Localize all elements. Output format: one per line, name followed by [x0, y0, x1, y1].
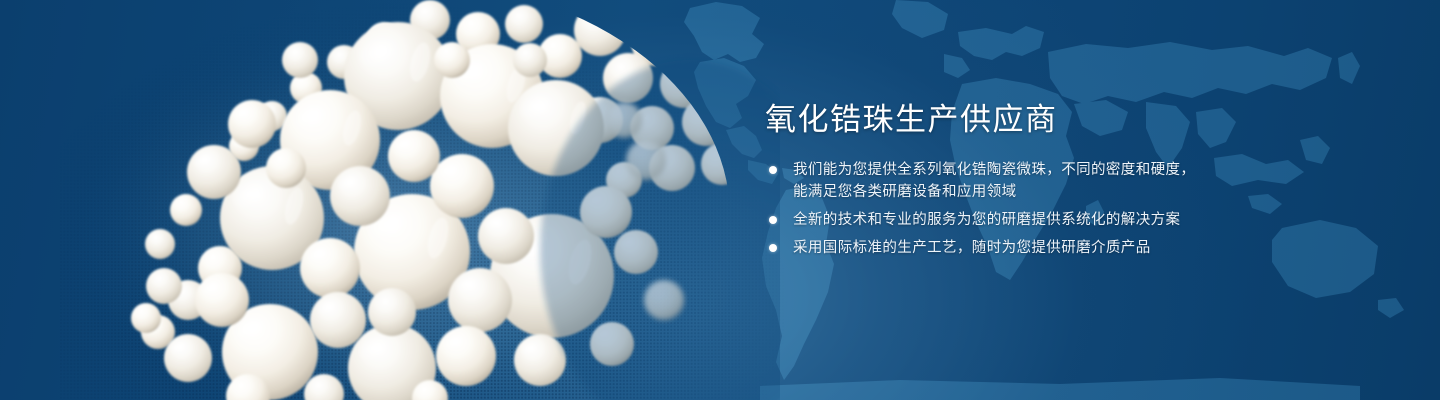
- bullet-dot-icon: [769, 166, 777, 174]
- list-item-line: 采用国际标准的生产工艺，随时为您提供研磨介质产品: [793, 237, 1365, 259]
- list-item-line: 全新的技术和专业的服务为您的研磨提供系统化的解决方案: [793, 209, 1365, 231]
- page-title: 氧化锆珠生产供应商: [765, 104, 1365, 137]
- list-item: 全新的技术和专业的服务为您的研磨提供系统化的解决方案: [765, 209, 1365, 231]
- list-item-line: 能满足您各类研磨设备和应用领域: [793, 181, 1365, 203]
- bullet-dot-icon: [769, 244, 777, 252]
- banner-content: 氧化锆珠生产供应商 我们能为您提供全系列氧化锆陶瓷微珠，不同的密度和硬度， 能满…: [765, 104, 1365, 259]
- feature-list: 我们能为您提供全系列氧化锆陶瓷微珠，不同的密度和硬度， 能满足您各类研磨设备和应…: [765, 159, 1365, 259]
- list-item-line: 我们能为您提供全系列氧化锆陶瓷微珠，不同的密度和硬度，: [793, 159, 1365, 181]
- list-item: 采用国际标准的生产工艺，随时为您提供研磨介质产品: [765, 237, 1365, 259]
- list-item: 我们能为您提供全系列氧化锆陶瓷微珠，不同的密度和硬度， 能满足您各类研磨设备和应…: [765, 159, 1365, 203]
- hero-banner: 氧化锆珠生产供应商 我们能为您提供全系列氧化锆陶瓷微珠，不同的密度和硬度， 能满…: [0, 0, 1440, 400]
- zirconia-ceramic-beads-photo: [0, 0, 780, 400]
- bullet-dot-icon: [769, 216, 777, 224]
